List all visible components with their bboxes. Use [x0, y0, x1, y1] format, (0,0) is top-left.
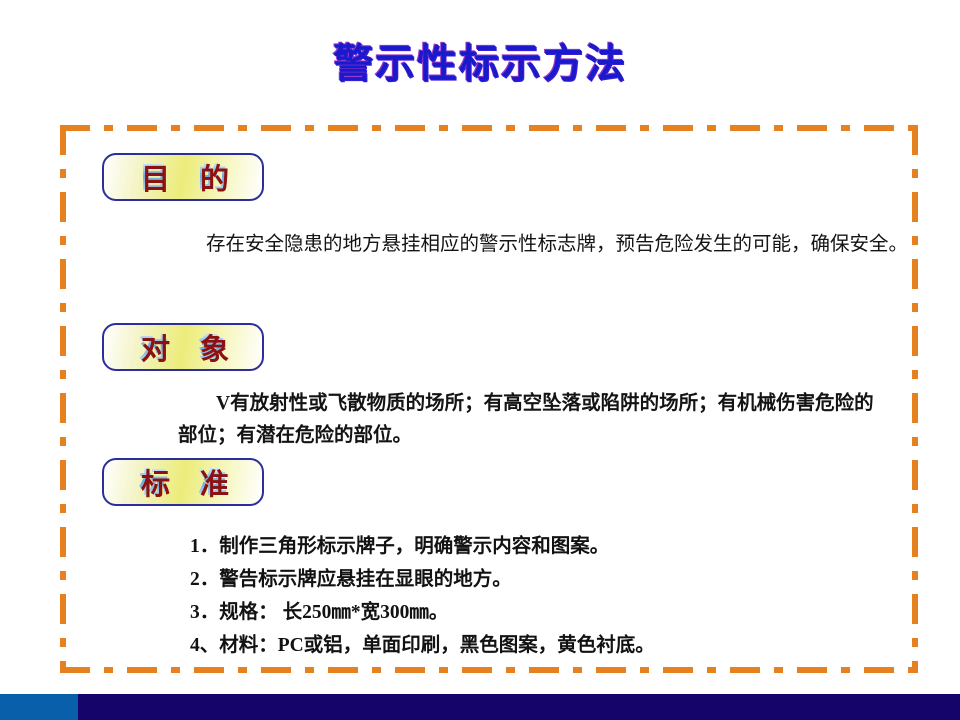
list-item: 4、材料：PC或铝，单面印刷，黑色图案，黄色衬底。	[190, 629, 890, 662]
list-item: 2．警告标示牌应悬挂在显眼的地方。	[190, 563, 890, 596]
frame-border-top	[60, 125, 918, 131]
section-body-target: V有放射性或飞散物质的场所；有高空坠落或陷阱的场所；有机械伤害危险的部位；有潜在…	[178, 388, 878, 452]
frame-border-left	[60, 125, 66, 673]
section-badge-standard: 标 准 标 准	[102, 458, 264, 506]
section-badge-target-label: 对 象	[129, 333, 237, 362]
list-item: 1．制作三角形标示牌子，明确警示内容和图案。	[190, 530, 890, 563]
footer-bar	[0, 694, 960, 720]
section-badge-standard-label: 标 准	[129, 468, 237, 497]
content-frame: 目 的 目 的 存在安全隐患的地方悬挂相应的警示性标志牌，预告危险发生的可能，确…	[60, 125, 918, 673]
section-badge-target: 对 象 对 象	[102, 323, 264, 371]
section-badge-purpose-label: 目 的	[129, 163, 237, 192]
section-body-purpose: 存在安全隐患的地方悬挂相应的警示性标志牌，预告危险发生的可能，确保安全。	[164, 228, 916, 261]
standard-list: 1．制作三角形标示牌子，明确警示内容和图案。 2．警告标示牌应悬挂在显眼的地方。…	[190, 530, 890, 662]
page-title: 警示性标示方法	[0, 44, 960, 84]
list-item: 3．规格： 长250㎜*宽300㎜。	[190, 596, 890, 629]
frame-border-right	[912, 125, 918, 673]
footer-accent-block	[0, 694, 78, 720]
section-badge-purpose: 目 的 目 的	[102, 153, 264, 201]
frame-border-bottom	[60, 667, 918, 673]
